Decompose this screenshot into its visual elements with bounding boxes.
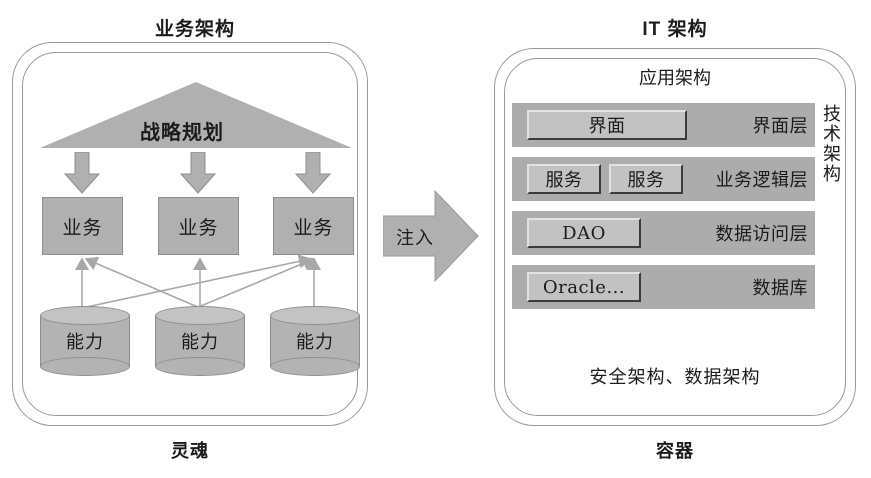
chip-oracle[interactable]: Oracle... — [527, 272, 641, 302]
cylinder-top — [40, 306, 130, 325]
layer-name-data-access: 数据访问层 — [716, 220, 809, 246]
security-data-architecture-note: 安全架构、数据架构 — [545, 363, 805, 389]
capability-cylinder-2[interactable]: 能力 — [155, 306, 245, 376]
chip-dao[interactable]: DAO — [527, 218, 641, 248]
chip-service-1[interactable]: 服务 — [527, 164, 601, 194]
strategy-label: 战略规划 — [140, 116, 224, 145]
layer-name-database: 数据库 — [753, 274, 809, 300]
layer-name-business-logic: 业务逻辑层 — [716, 166, 809, 192]
cylinder-bottom — [40, 357, 130, 376]
capability-label-3: 能力 — [270, 328, 360, 354]
technical-architecture-vertical-label: 技术架构 — [821, 104, 839, 184]
chip-service-2[interactable]: 服务 — [609, 164, 683, 194]
down-arrow-icon-1 — [64, 152, 100, 194]
cylinder-top — [155, 306, 245, 325]
layer-row-business-logic[interactable]: 服务 服务 业务逻辑层 — [512, 157, 815, 201]
business-box-2[interactable]: 业务 — [158, 197, 239, 255]
left-panel-title: 业务架构 — [105, 14, 285, 41]
capability-cylinder-1[interactable]: 能力 — [40, 306, 130, 376]
injection-label: 注入 — [396, 224, 434, 250]
capability-label-2: 能力 — [155, 328, 245, 354]
business-box-1[interactable]: 业务 — [42, 197, 123, 255]
right-panel-title: IT 架构 — [585, 14, 765, 41]
cylinder-top — [270, 306, 360, 325]
layer-name-interface: 界面层 — [753, 112, 809, 138]
right-panel-caption: 容器 — [625, 437, 725, 463]
cylinder-bottom — [270, 357, 360, 376]
layer-row-database[interactable]: Oracle... 数据库 — [512, 265, 815, 309]
capability-label-1: 能力 — [40, 328, 130, 354]
down-arrow-icon-2 — [180, 152, 216, 194]
layer-row-interface[interactable]: 界面 界面层 — [512, 103, 815, 147]
capability-cylinder-3[interactable]: 能力 — [270, 306, 360, 376]
diagram-canvas: 业务架构 战略规划 业务 业务 业务 — [0, 0, 871, 478]
cylinder-bottom — [155, 357, 245, 376]
down-arrow-icon-3 — [295, 152, 331, 194]
left-panel-caption: 灵魂 — [140, 437, 240, 463]
application-architecture-heading: 应用架构 — [560, 64, 790, 90]
layer-row-data-access[interactable]: DAO 数据访问层 — [512, 211, 815, 255]
business-box-3[interactable]: 业务 — [273, 197, 354, 255]
chip-interface[interactable]: 界面 — [527, 110, 687, 140]
